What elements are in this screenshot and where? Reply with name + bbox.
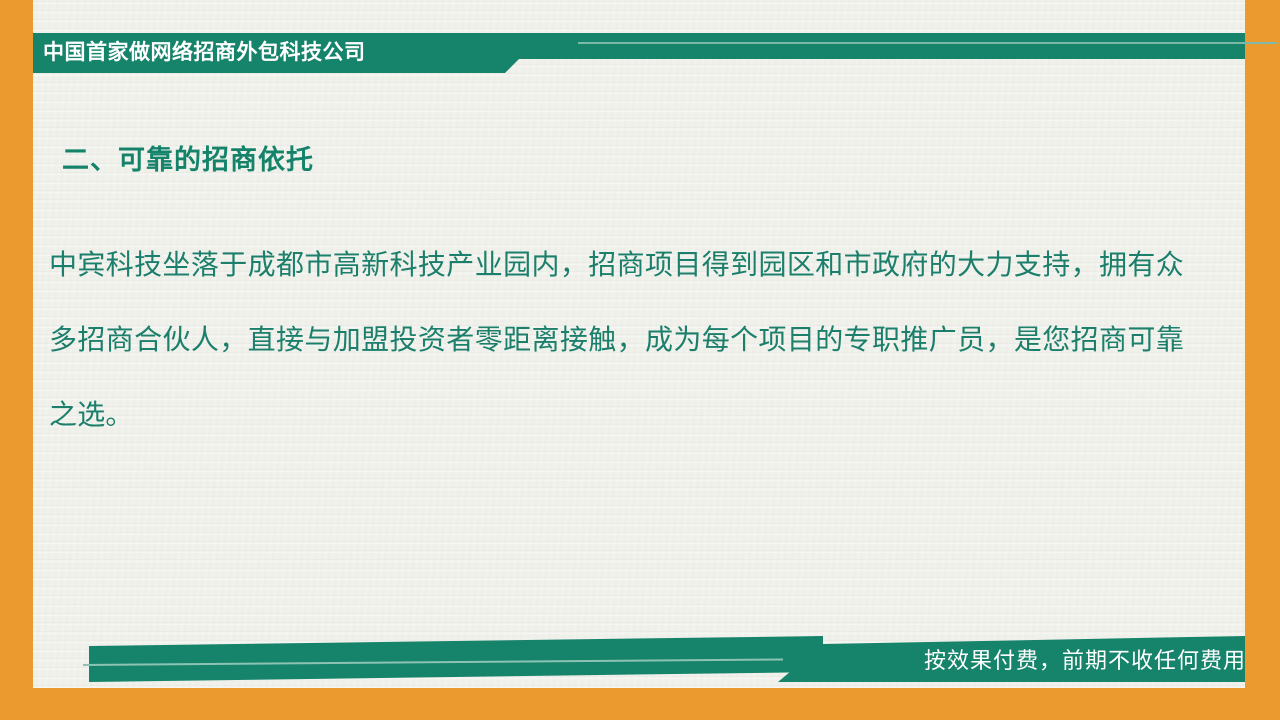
header-title: 中国首家做网络招商外包科技公司: [43, 34, 743, 72]
body-paragraph: 中宾科技坐落于成都市高新科技产业园内，招商项目得到园区和市政府的大力支持，拥有众…: [49, 228, 1184, 453]
presentation-slide: 中国首家做网络招商外包科技公司 二、可靠的招商依托 中宾科技坐落于成都市高新科技…: [0, 0, 1280, 720]
footer-tagline: 按效果付费，前期不收任何费用: [924, 641, 1246, 681]
section-heading: 二、可靠的招商依托: [62, 138, 314, 177]
